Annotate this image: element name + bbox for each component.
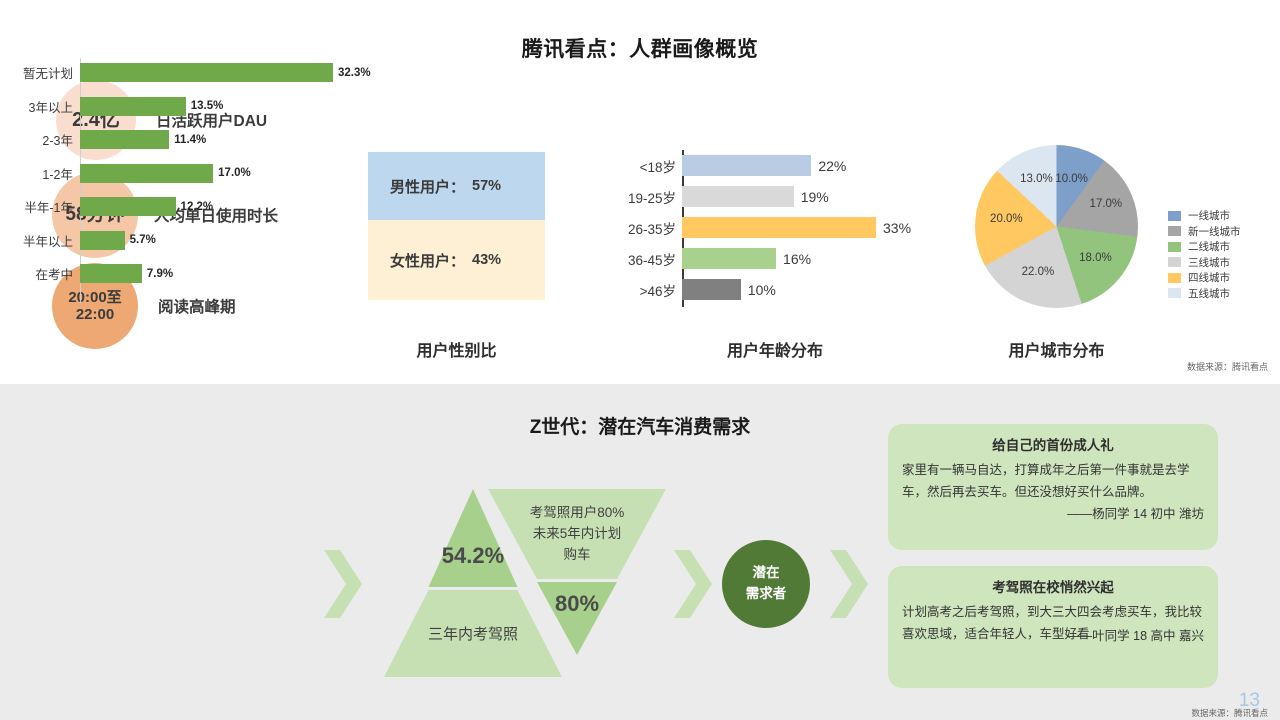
pie-legend-swatch: [1168, 273, 1181, 283]
pie-legend-item: 二线城市: [1168, 239, 1241, 255]
pie-legend-label: 五线城市: [1188, 286, 1230, 301]
age-bar-value: 22%: [818, 158, 846, 174]
age-bar-row: 19-25岁19%: [625, 181, 925, 212]
pie-legend-label: 三线城市: [1188, 255, 1230, 270]
plan-chart: 暂无计划32.3%3年以上13.5%2-3年11.4%1-2年17.0%半年-1…: [4, 56, 384, 291]
source-note-bottom: 数据来源：腾讯看点: [1191, 707, 1268, 719]
pie-legend-label: 一线城市: [1188, 208, 1230, 223]
plan-bar-row: 在考中7.9%: [4, 257, 384, 291]
kpi-peak-hours-value-line1: 20:00至: [68, 289, 121, 306]
core-segment-circle: 潜在 需求者: [722, 540, 810, 628]
gender-female-name: 女性用户：: [390, 250, 465, 271]
plan-bar-value: 17.0%: [218, 167, 251, 179]
plan-bar-value: 32.3%: [338, 67, 371, 79]
source-note-top: 数据来源：腾讯看点: [1187, 360, 1268, 373]
plan-bar-row: 半年以上5.7%: [4, 224, 384, 258]
core-segment-line1: 潜在: [753, 563, 780, 584]
age-bar-value: 33%: [883, 220, 911, 236]
pie-legend-label: 四线城市: [1188, 270, 1230, 285]
pyramid-down-label-line2: 未来5年内计划: [488, 524, 666, 545]
age-bar: [682, 155, 811, 176]
plan-bar-value: 5.7%: [130, 234, 156, 246]
age-bar-value: 10%: [748, 282, 776, 298]
gender-chart: 男性用户： 57% 女性用户： 43%: [368, 152, 545, 300]
city-pie-legend: 一线城市新一线城市二线城市三线城市四线城市五线城市: [1168, 208, 1241, 301]
age-bar-label: >46岁: [625, 280, 682, 300]
plan-bar-row: 半年-1年12.2%: [4, 190, 384, 224]
age-bar: [682, 248, 776, 269]
plan-bar: [80, 231, 125, 250]
gender-male-value: 57%: [472, 178, 501, 194]
pyramid-down-label-line1: 考驾照用户80%: [488, 503, 666, 524]
pie-slice-label: 22.0%: [1018, 266, 1058, 278]
plan-bar-row: 1-2年17.0%: [4, 157, 384, 191]
city-pie-disc: [975, 145, 1138, 308]
city-pie-chart: 10.0%17.0%18.0%22.0%20.0%13.0%: [975, 145, 1138, 308]
pie-legend-item: 三线城市: [1168, 255, 1241, 271]
pyramid-down-label-line3: 购车: [488, 545, 666, 566]
kpi-peak-hours-value-line2: 22:00: [76, 306, 114, 323]
slide-canvas: 腾讯看点：人群画像概览 2.4亿 日活跃用户DAU 58分钟 人均单日使用时长 …: [0, 0, 1280, 720]
plan-bar: [80, 164, 213, 183]
quote-card-1-body: 家里有一辆马自达，打算成年之后第一件事就是去学车，然后再去买车。但还没想好买什么…: [902, 460, 1204, 503]
age-bar-row: 36-45岁16%: [625, 243, 925, 274]
pie-legend-item: 一线城市: [1168, 208, 1241, 224]
age-bar-value: 16%: [783, 251, 811, 267]
quote-card-2: 考驾照在校悄然兴起 计划高考之后考驾照，到大三大四会考虑买车，我比较喜欢思域，适…: [888, 566, 1218, 688]
age-bar-row: <18岁22%: [625, 150, 925, 181]
pie-legend-label: 新一线城市: [1188, 224, 1241, 239]
pie-legend-swatch: [1168, 288, 1181, 298]
plan-bar-label: 暂无计划: [4, 63, 80, 82]
age-bar-value: 19%: [801, 189, 829, 205]
pie-legend-swatch: [1168, 257, 1181, 267]
plan-bar: [80, 264, 142, 283]
plan-bar-value: 7.9%: [147, 268, 173, 280]
age-bar: [682, 217, 876, 238]
core-segment-line2: 需求者: [746, 584, 787, 605]
pyramid-down-value: 80%: [533, 591, 621, 617]
age-bar: [682, 186, 794, 207]
gender-male-name: 男性用户：: [390, 176, 465, 197]
age-bar: [682, 279, 741, 300]
plan-bar: [80, 197, 176, 216]
plan-bar: [80, 63, 333, 82]
plan-bar-row: 暂无计划32.3%: [4, 56, 384, 90]
pie-slice-label: 18.0%: [1075, 252, 1115, 264]
plan-bar: [80, 97, 186, 116]
pyramid-up-label: 三年内考驾照: [378, 623, 568, 644]
caption-age-chart: 用户年龄分布: [625, 337, 925, 361]
age-bar-label: 19-25岁: [625, 187, 682, 207]
plan-bar-label: 半年-1年: [4, 197, 80, 216]
age-bar-label: 36-45岁: [625, 249, 682, 269]
pyramid-diagram: 54.2% 三年内考驾照 考驾照用户80% 未来5年内计划 购车 80%: [378, 487, 668, 677]
pie-legend-item: 五线城市: [1168, 286, 1241, 302]
gender-row-male: 男性用户： 57%: [368, 152, 545, 220]
age-bar-row: >46岁10%: [625, 274, 925, 305]
quote-card-1-title: 给自己的首份成人礼: [902, 434, 1204, 454]
pie-slice-label: 17.0%: [1086, 198, 1126, 210]
pie-legend-swatch: [1168, 242, 1181, 252]
plan-bar-label: 3年以上: [4, 97, 80, 116]
pie-slice-label: 20.0%: [986, 213, 1026, 225]
age-bar-label: 26-35岁: [625, 218, 682, 238]
age-bar-label: <18岁: [625, 156, 682, 176]
plan-bar-value: 11.4%: [174, 134, 206, 146]
pie-legend-swatch: [1168, 211, 1181, 221]
age-bar-row: 26-35岁33%: [625, 212, 925, 243]
plan-bar-label: 半年以上: [4, 231, 80, 250]
caption-gender-chart: 用户性别比: [368, 337, 545, 361]
pie-legend-swatch: [1168, 226, 1181, 236]
gender-female-value: 43%: [472, 252, 501, 268]
kpi-peak-hours-label: 阅读高峰期: [158, 295, 236, 317]
pie-slice-label: 13.0%: [1016, 173, 1056, 185]
pie-slice-label: 10.0%: [1052, 173, 1092, 185]
quote-card-1-attribution: ——杨同学 14 初中 潍坊: [902, 503, 1204, 522]
pie-legend-label: 二线城市: [1188, 239, 1230, 254]
pie-legend-item: 新一线城市: [1168, 224, 1241, 240]
gender-row-female: 女性用户： 43%: [368, 220, 545, 300]
pie-legend-item: 四线城市: [1168, 270, 1241, 286]
plan-bar: [80, 130, 169, 149]
plan-bar-value: 13.5%: [191, 100, 224, 112]
quote-card-2-title: 考驾照在校悄然兴起: [902, 576, 1204, 596]
plan-bar-row: 2-3年11.4%: [4, 123, 384, 157]
plan-bar-label: 在考中: [4, 264, 80, 283]
caption-city-chart: 用户城市分布: [975, 337, 1138, 361]
age-chart: <18岁22%19-25岁19%26-35岁33%36-45岁16%>46岁10…: [625, 150, 925, 310]
plan-bar-label: 2-3年: [4, 130, 80, 149]
quote-card-1: 给自己的首份成人礼 家里有一辆马自达，打算成年之后第一件事就是去学车，然后再去买…: [888, 424, 1218, 550]
plan-bar-label: 1-2年: [4, 164, 80, 183]
plan-bar-row: 3年以上13.5%: [4, 90, 384, 124]
plan-bar-value: 12.2%: [181, 201, 214, 213]
